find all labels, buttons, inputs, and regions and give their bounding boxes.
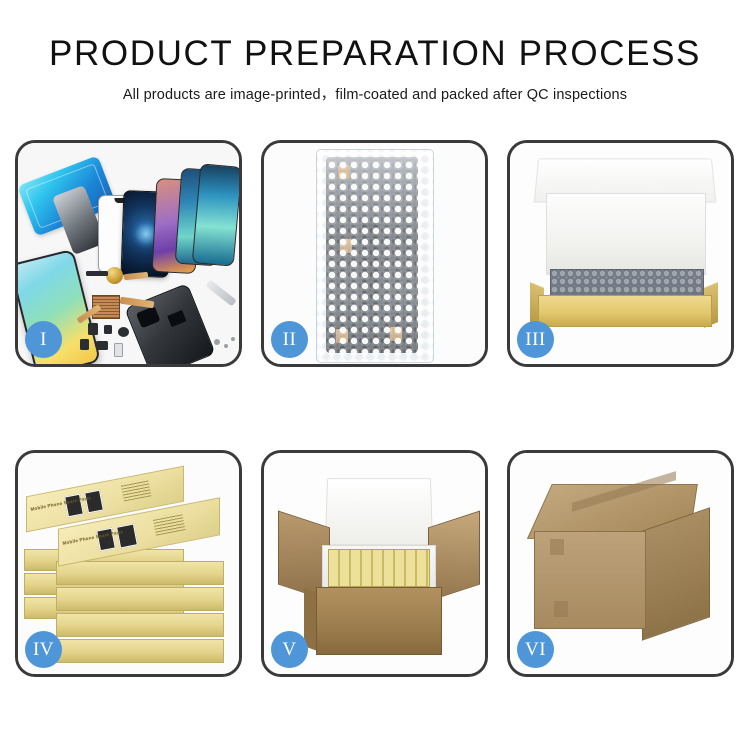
stacked-box xyxy=(56,587,224,611)
process-step-4: Mobile Phone Spare Parts Mobile Phone Sp… xyxy=(15,450,242,677)
stacked-box xyxy=(56,561,224,585)
stacked-box xyxy=(56,613,224,637)
stacked-box xyxy=(56,639,224,663)
chip-part xyxy=(104,325,112,334)
process-step-2: II xyxy=(261,140,488,367)
process-step-6: VI xyxy=(507,450,734,677)
chip-part xyxy=(88,323,98,335)
carton-body xyxy=(316,587,442,655)
white-foam-pad xyxy=(546,193,706,275)
chip-part xyxy=(80,339,89,350)
box-front-panel xyxy=(538,295,712,327)
step-badge-4: IV xyxy=(25,631,62,668)
tape-strip xyxy=(554,601,568,617)
process-step-5: V xyxy=(261,450,488,677)
step-badge-1: I xyxy=(25,321,62,358)
bubble-wrap-overlay xyxy=(316,149,434,363)
process-step-grid: I II xyxy=(15,140,735,677)
header: PRODUCT PREPARATION PROCESS All products… xyxy=(0,0,750,104)
phone-teal-wallpaper-2 xyxy=(192,163,242,266)
step-badge-5: V xyxy=(271,631,308,668)
step-badge-3: III xyxy=(517,321,554,358)
chip-part xyxy=(86,271,108,276)
speaker-coil-part xyxy=(106,267,123,284)
process-step-3: III xyxy=(507,140,734,367)
process-step-1: I xyxy=(15,140,242,367)
sim-tray-part xyxy=(114,343,123,357)
foam-lid xyxy=(325,478,433,545)
product-image-swatch xyxy=(116,523,138,548)
button-part xyxy=(118,327,129,337)
page-title: PRODUCT PREPARATION PROCESS xyxy=(0,36,750,73)
step-badge-6: VI xyxy=(517,631,554,668)
yellow-boxes-inside xyxy=(328,549,430,587)
product-preparation-infographic: PRODUCT PREPARATION PROCESS All products… xyxy=(0,0,750,750)
step-badge-2: II xyxy=(271,321,308,358)
carton-side-face xyxy=(642,507,710,640)
tape-strip xyxy=(550,539,564,555)
page-subtitle: All products are image-printed，film-coat… xyxy=(0,83,750,104)
chip-part xyxy=(96,341,108,350)
screws-part xyxy=(214,339,220,345)
